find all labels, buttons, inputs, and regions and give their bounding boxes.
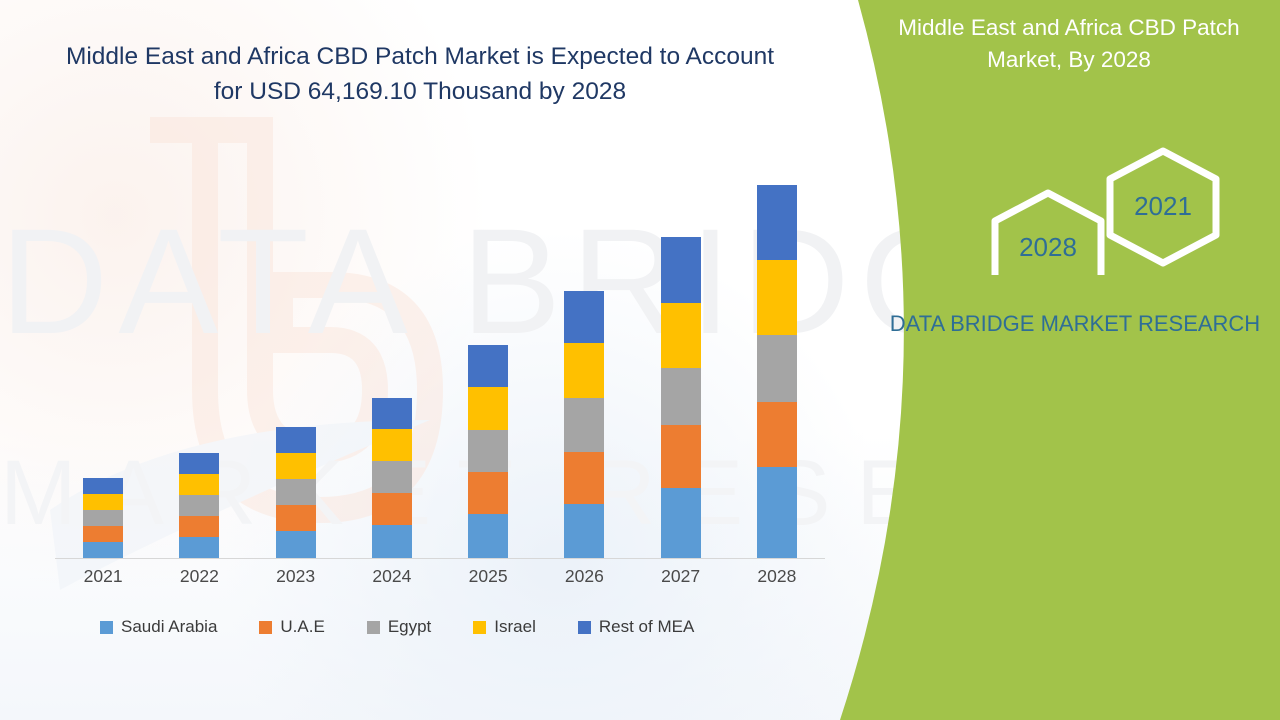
bar-segment-rest-of-mea-2027 — [661, 237, 701, 303]
bar-segment-egypt-2025 — [468, 430, 508, 472]
bar-segment-rest-of-mea-2025 — [468, 345, 508, 387]
bar-2025 — [468, 345, 508, 558]
legend-label: Rest of MEA — [599, 617, 694, 637]
bar-segment-egypt-2022 — [179, 495, 219, 516]
bar-segment-israel-2022 — [179, 474, 219, 495]
x-axis-label-2027: 2027 — [661, 566, 701, 596]
bar-2028 — [757, 185, 797, 558]
bar-segment-u-a-e-2021 — [83, 526, 123, 542]
bar-segment-israel-2025 — [468, 387, 508, 430]
x-axis-label-2023: 2023 — [276, 566, 316, 596]
legend-item-israel[interactable]: Israel — [473, 617, 536, 637]
bar-2022 — [179, 453, 219, 558]
legend-swatch-icon — [259, 621, 272, 634]
bar-2021 — [83, 478, 123, 558]
page-title: Middle East and Africa CBD Patch Market … — [60, 40, 780, 110]
bar-segment-saudi-arabia-2024 — [372, 525, 412, 558]
x-axis-labels: 20212022202320242025202620272028 — [55, 566, 825, 596]
bar-segment-saudi-arabia-2025 — [468, 514, 508, 558]
legend-swatch-icon — [578, 621, 591, 634]
bar-segment-egypt-2023 — [276, 479, 316, 505]
x-axis-label-2028: 2028 — [757, 566, 797, 596]
legend-item-saudi-arabia[interactable]: Saudi Arabia — [100, 617, 217, 637]
bar-segment-rest-of-mea-2026 — [564, 291, 604, 343]
legend-swatch-icon — [473, 621, 486, 634]
bar-segment-u-a-e-2024 — [372, 493, 412, 525]
bar-2024 — [372, 398, 412, 558]
bar-segment-u-a-e-2027 — [661, 425, 701, 488]
bar-segment-israel-2028 — [757, 260, 797, 335]
x-axis-label-2025: 2025 — [468, 566, 508, 596]
bar-segment-saudi-arabia-2027 — [661, 488, 701, 558]
legend-item-egypt[interactable]: Egypt — [367, 617, 431, 637]
bar-segment-egypt-2028 — [757, 335, 797, 402]
bar-segment-saudi-arabia-2028 — [757, 467, 797, 558]
bar-segment-egypt-2027 — [661, 368, 701, 425]
panel-title: Middle East and Africa CBD Patch Market,… — [840, 12, 1280, 76]
legend-item-u-a-e[interactable]: U.A.E — [259, 617, 324, 637]
green-panel-shape — [840, 0, 1280, 720]
bar-segment-israel-2027 — [661, 303, 701, 368]
bar-segment-saudi-arabia-2023 — [276, 531, 316, 558]
bar-2026 — [564, 291, 604, 558]
legend-label: Egypt — [388, 617, 431, 637]
bar-segment-saudi-arabia-2022 — [179, 537, 219, 558]
bar-segment-rest-of-mea-2021 — [83, 478, 123, 494]
stacked-bar-chart — [55, 120, 825, 558]
slide-canvas: DATA BRIDGE MARKET RESEARCH Middle East … — [0, 0, 1280, 720]
bar-segment-rest-of-mea-2023 — [276, 427, 316, 453]
bar-segment-u-a-e-2026 — [564, 452, 604, 504]
legend-swatch-icon — [367, 621, 380, 634]
bar-segment-saudi-arabia-2021 — [83, 542, 123, 558]
bar-2023 — [276, 427, 316, 558]
x-axis-label-2022: 2022 — [179, 566, 219, 596]
bar-segment-rest-of-mea-2028 — [757, 185, 797, 260]
legend-label: Israel — [494, 617, 536, 637]
bar-segment-rest-of-mea-2024 — [372, 398, 412, 429]
hexagon-2021-label: 2021 — [1134, 191, 1192, 221]
legend-label: U.A.E — [280, 617, 324, 637]
x-axis-label-2021: 2021 — [83, 566, 123, 596]
bar-segment-egypt-2021 — [83, 510, 123, 526]
chart-legend: Saudi ArabiaU.A.EEgyptIsraelRest of MEA — [100, 614, 820, 640]
bar-segment-israel-2024 — [372, 429, 412, 461]
right-green-panel: Middle East and Africa CBD Patch Market,… — [840, 0, 1280, 720]
bar-2027 — [661, 237, 701, 558]
x-axis-label-2024: 2024 — [372, 566, 412, 596]
bar-segment-u-a-e-2025 — [468, 472, 508, 514]
bar-segment-israel-2021 — [83, 494, 123, 510]
legend-item-rest-of-mea[interactable]: Rest of MEA — [578, 617, 694, 637]
bar-segment-u-a-e-2028 — [757, 402, 797, 467]
bar-segment-u-a-e-2023 — [276, 505, 316, 531]
legend-label: Saudi Arabia — [121, 617, 217, 637]
x-axis-label-2026: 2026 — [564, 566, 604, 596]
bar-segment-israel-2023 — [276, 453, 316, 479]
bar-segment-israel-2026 — [564, 343, 604, 398]
chart-axis-line — [55, 558, 825, 559]
brand-name-text: DATA BRIDGE MARKET RESEARCH — [870, 308, 1280, 340]
hexagon-badges: 2021 2028 — [958, 145, 1278, 275]
bar-segment-egypt-2024 — [372, 461, 412, 493]
bar-segment-saudi-arabia-2026 — [564, 504, 604, 558]
bar-segment-egypt-2026 — [564, 398, 604, 452]
hexagon-2028-label: 2028 — [1019, 232, 1077, 262]
legend-swatch-icon — [100, 621, 113, 634]
bar-segment-u-a-e-2022 — [179, 516, 219, 537]
bar-segment-rest-of-mea-2022 — [179, 453, 219, 474]
